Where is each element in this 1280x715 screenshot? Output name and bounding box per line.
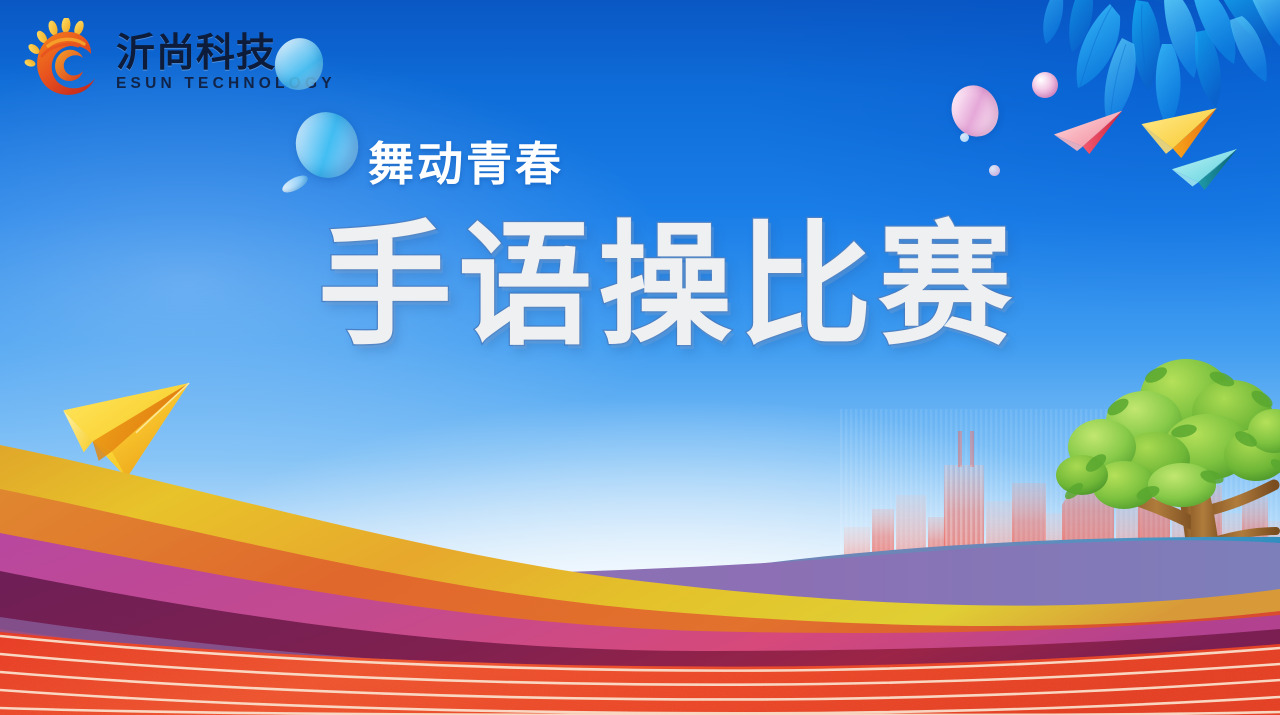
poster-canvas: 沂尚科技 ESUN TECHNOLOGY: [0, 0, 1280, 715]
logo-text-block: 沂尚科技 ESUN TECHNOLOGY: [116, 28, 336, 92]
logo-chinese-name: 沂尚科技: [116, 34, 336, 73]
poster-main-title: 手语操比赛: [318, 218, 1018, 355]
esun-spiral-sun-logo-icon: [22, 18, 110, 102]
logo-english-name: ESUN TECHNOLOGY: [116, 76, 336, 92]
poster-subtitle: 舞动青春: [368, 128, 564, 194]
company-logo[interactable]: 沂尚科技 ESUN TECHNOLOGY: [22, 18, 336, 102]
